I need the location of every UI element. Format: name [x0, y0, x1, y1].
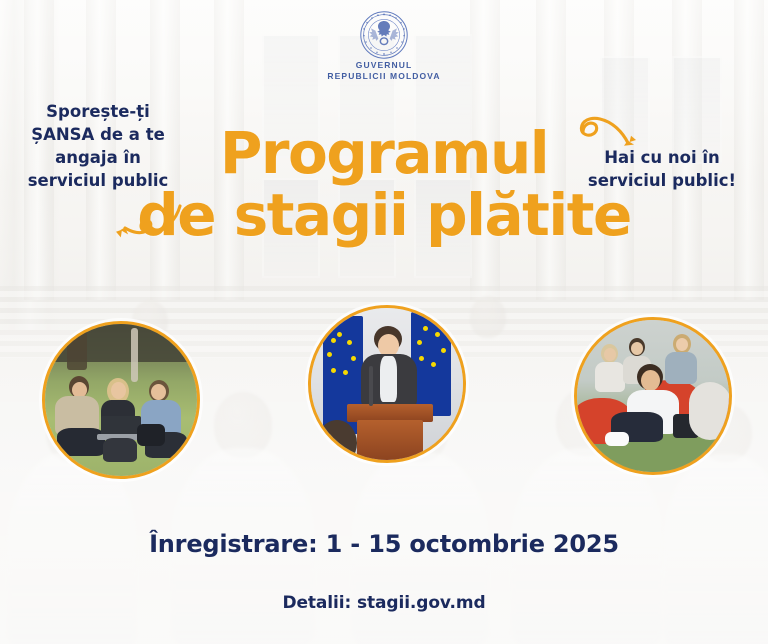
audience-head [317, 420, 357, 460]
photo-students-on-grass-with-laptop [42, 321, 200, 479]
microphone [369, 366, 373, 406]
slogan-left-line-4: serviciul public [8, 169, 188, 192]
photo-1-image [45, 324, 197, 476]
moldova-coat-of-arms-icon [359, 10, 409, 60]
slogan-left-line-1: Sporește-ți [8, 100, 188, 123]
curly-arrow-up-left-icon [100, 196, 186, 250]
details-link[interactable]: Detalii: stagii.gov.md [0, 593, 768, 613]
curly-arrow-right-icon [578, 110, 660, 162]
slogan-right-line-2: serviciul public! [562, 169, 762, 192]
photo-2-image [311, 308, 463, 460]
tree-trunk [131, 328, 138, 382]
photo-young-man-at-podium-eu-flags [308, 305, 466, 463]
emblem-line-2: REPUBLICII MOLDOVA [0, 71, 768, 82]
slogan-left-line-2: ȘANSA de a te [8, 123, 188, 146]
tree-trunk [67, 330, 87, 370]
poster: GUVERNUL REPUBLICII MOLDOVA Programul de… [0, 0, 768, 644]
laptop [101, 416, 141, 436]
slogan-left: Sporește-ți ȘANSA de a te angaja în serv… [8, 100, 188, 192]
backpack [137, 424, 165, 446]
photo-youth-group-on-bean-bags [574, 317, 732, 475]
government-emblem: GUVERNUL REPUBLICII MOLDOVA [0, 10, 768, 82]
slogan-left-line-3: angaja în [8, 146, 188, 169]
emblem-line-1: GUVERNUL [0, 60, 768, 71]
person-right-legs [689, 382, 729, 440]
registration-period: Înregistrare: 1 - 15 octombrie 2025 [0, 530, 768, 558]
photo-3-image [577, 320, 729, 472]
title-line-1: Programul [220, 119, 548, 187]
podium-body [357, 420, 423, 460]
